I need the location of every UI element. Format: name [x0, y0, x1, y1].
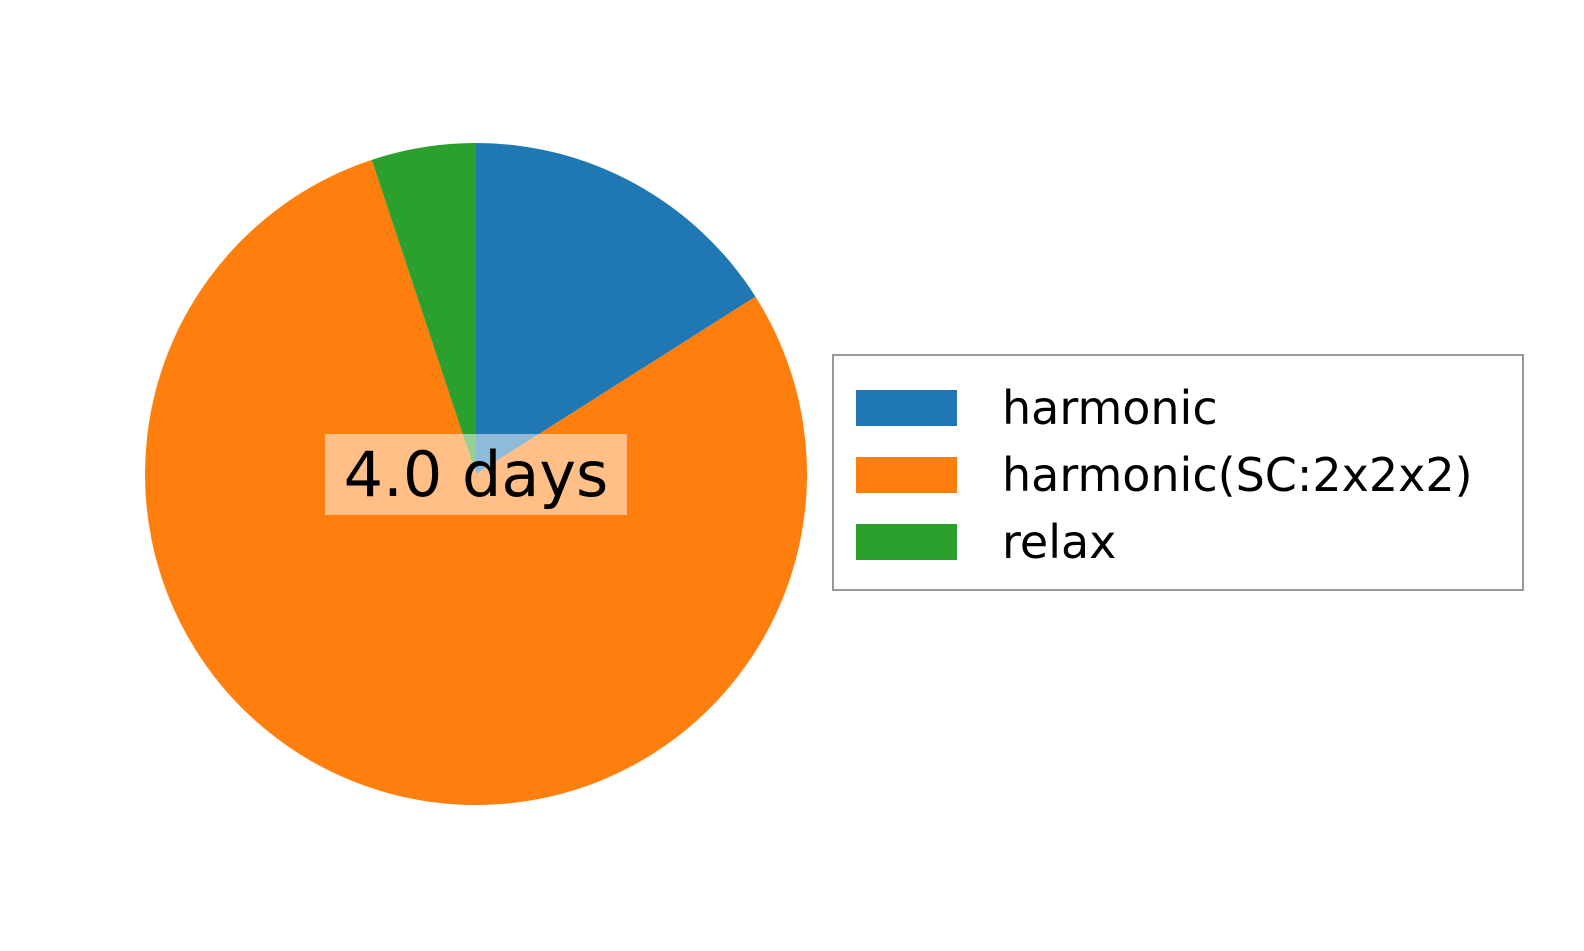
pie-chart-figure: 4.0 days harmonic harmonic(SC:2x2x2) rel… [0, 0, 1584, 951]
legend-items: harmonic harmonic(SC:2x2x2) relax [834, 356, 1522, 589]
legend-label-harmonic: harmonic [1002, 385, 1218, 431]
legend-label-relax: relax [1002, 519, 1116, 565]
legend-entry-relax[interactable]: relax [856, 508, 1522, 575]
legend-swatch-harmonic [856, 390, 957, 426]
center-total-text: 4.0 days [344, 444, 609, 506]
legend-box: harmonic harmonic(SC:2x2x2) relax [832, 354, 1524, 591]
center-total-label: 4.0 days [325, 434, 627, 515]
legend-entry-harmonic[interactable]: harmonic [856, 374, 1522, 441]
legend-label-harmonic-sc: harmonic(SC:2x2x2) [1002, 452, 1473, 498]
legend-swatch-relax [856, 524, 957, 560]
legend-entry-harmonic-sc[interactable]: harmonic(SC:2x2x2) [856, 441, 1522, 508]
legend-swatch-harmonic-sc [856, 457, 957, 493]
